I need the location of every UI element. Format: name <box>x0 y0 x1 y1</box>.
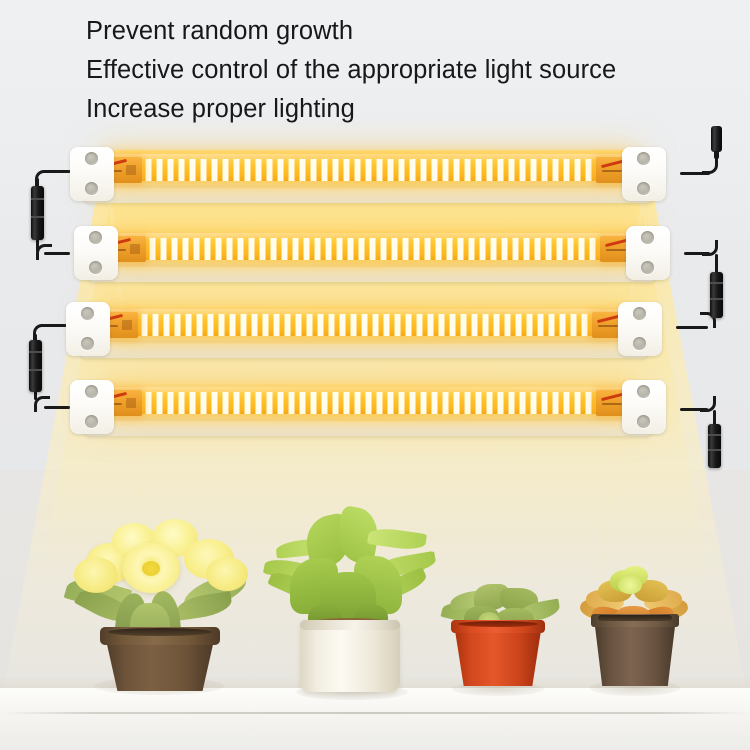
mounting-bracket-right[interactable] <box>622 380 666 434</box>
led-emitter-array <box>110 159 630 181</box>
plant-pot <box>300 620 400 692</box>
pot-inner-shadow <box>458 621 538 627</box>
inline-barrel-connector <box>710 272 723 318</box>
mounting-bracket-left[interactable] <box>70 380 114 434</box>
plant-succulent <box>572 562 696 696</box>
pot-inner-shadow <box>108 628 212 636</box>
screw-mounting-hole <box>85 415 98 428</box>
flower <box>74 557 118 593</box>
mounting-bracket-right[interactable] <box>622 147 666 201</box>
mounting-bracket-right[interactable] <box>626 226 670 280</box>
screw-mounting-hole <box>85 152 98 165</box>
pot-inner-shadow <box>598 615 672 621</box>
screw-mounting-hole <box>85 182 98 195</box>
screw-mounting-hole <box>641 261 654 274</box>
screw-mounting-hole <box>637 385 650 398</box>
leaf <box>175 591 234 621</box>
table-edge-line <box>0 712 750 714</box>
screw-mounting-hole <box>81 337 94 350</box>
flower <box>206 557 248 591</box>
screw-mounting-hole <box>89 231 102 244</box>
inline-barrel-connector <box>29 340 42 392</box>
pot-rim <box>300 620 400 630</box>
screw-mounting-hole <box>85 385 98 398</box>
screw-mounting-hole <box>637 152 650 165</box>
mounting-bracket-left[interactable] <box>70 147 114 201</box>
screw-mounting-hole <box>637 415 650 428</box>
mounting-bracket-left[interactable] <box>74 226 118 280</box>
screw-mounting-hole <box>633 337 646 350</box>
marketing-headings: Prevent random growth Effective control … <box>86 12 746 128</box>
plant-pot <box>594 618 676 686</box>
product-image-stage: Prevent random growth Effective control … <box>0 0 750 750</box>
inline-barrel-connector <box>708 424 721 468</box>
plant-fern <box>262 500 438 696</box>
mounting-bracket-left[interactable] <box>66 302 110 356</box>
inline-barrel-connector <box>31 186 44 240</box>
heading-line-1: Prevent random growth <box>86 12 746 51</box>
flower-stamen <box>142 561 160 576</box>
heading-line-3: Increase proper lighting <box>86 90 746 129</box>
led-emitter-array <box>110 392 630 414</box>
cable-corner <box>36 244 52 260</box>
plant-small-leafy <box>438 578 562 696</box>
plant-pot <box>454 624 542 686</box>
led-emitter-array <box>106 314 626 336</box>
fern-frond <box>367 526 427 552</box>
screw-mounting-hole <box>81 307 94 320</box>
dc-power-plug <box>711 126 722 152</box>
screw-mounting-hole <box>637 182 650 195</box>
screw-mounting-hole <box>641 231 654 244</box>
succulent-leaf-center <box>618 576 642 594</box>
screw-mounting-hole <box>89 261 102 274</box>
heading-line-2: Effective control of the appropriate lig… <box>86 51 746 90</box>
mounting-bracket-right[interactable] <box>618 302 662 356</box>
plant-yellow-flowers <box>60 495 260 695</box>
screw-mounting-hole <box>633 307 646 320</box>
led-emitter-array <box>114 238 634 260</box>
